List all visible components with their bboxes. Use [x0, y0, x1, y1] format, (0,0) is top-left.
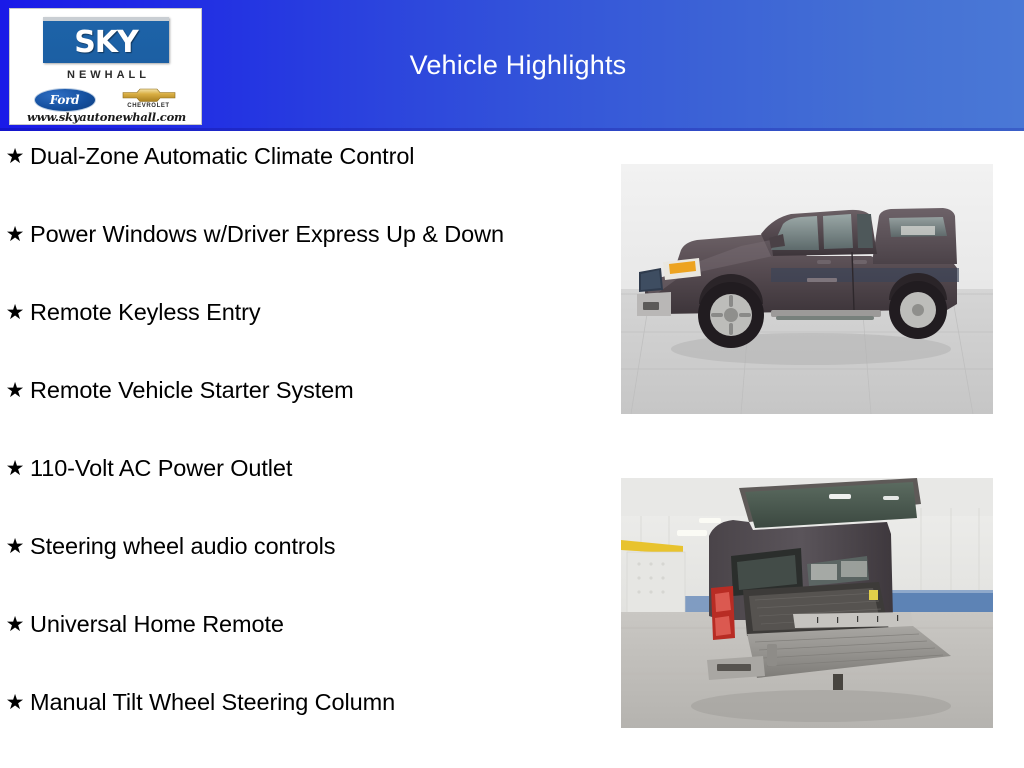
feature-label: Steering wheel audio controls: [30, 528, 540, 564]
header-underline: [0, 128, 1024, 131]
star-bullet-icon: ★: [0, 372, 30, 408]
list-item: ★ Steering wheel audio controls: [0, 528, 600, 564]
list-item: ★ 110-Volt AC Power Outlet: [0, 450, 600, 486]
list-item: ★ Dual-Zone Automatic Climate Control: [0, 138, 600, 174]
sky-brand-text: SKY: [43, 21, 169, 63]
ford-logo-icon: Ford: [34, 88, 96, 112]
list-item: ★ Remote Keyless Entry: [0, 294, 600, 330]
feature-label: Remote Keyless Entry: [30, 294, 540, 330]
feature-label: Power Windows w/Driver Express Up & Down: [30, 216, 540, 252]
star-bullet-icon: ★: [0, 684, 30, 720]
list-item: ★ Universal Home Remote: [0, 606, 600, 642]
star-bullet-icon: ★: [0, 606, 30, 642]
vehicle-highlights-list: ★ Dual-Zone Automatic Climate Control ★ …: [0, 138, 600, 720]
chevrolet-logo-label: CHEVROLET: [118, 103, 180, 109]
star-bullet-icon: ★: [0, 216, 30, 252]
chevrolet-bowtie-shape: [122, 88, 176, 103]
feature-label: Dual-Zone Automatic Climate Control: [30, 138, 540, 174]
dealer-website-url: www.skyautonewhall.com: [10, 110, 202, 124]
vehicle-exterior-photo[interactable]: [621, 164, 993, 414]
feature-label: Universal Home Remote: [30, 606, 540, 642]
dealer-logo[interactable]: SKY NEWHALL Ford CHEVROLET www.skyautone…: [9, 8, 202, 125]
star-bullet-icon: ★: [0, 294, 30, 330]
star-bullet-icon: ★: [0, 450, 30, 486]
feature-label: Remote Vehicle Starter System: [30, 372, 540, 408]
feature-label: 110-Volt AC Power Outlet: [30, 450, 540, 486]
feature-label: Manual Tilt Wheel Steering Column: [30, 684, 540, 720]
star-bullet-icon: ★: [0, 528, 30, 564]
ford-logo-label: Ford: [50, 93, 79, 107]
dealer-location-text: NEWHALL: [10, 69, 202, 81]
list-item: ★ Power Windows w/Driver Express Up & Do…: [0, 216, 600, 252]
sky-logo-plate: SKY: [43, 17, 169, 63]
list-item: ★ Manual Tilt Wheel Steering Column: [0, 684, 600, 720]
vehicle-exterior-image: [621, 164, 993, 414]
vehicle-cargo-photo[interactable]: [621, 478, 993, 728]
star-bullet-icon: ★: [0, 138, 30, 174]
vehicle-cargo-image: [621, 478, 993, 728]
list-item: ★ Remote Vehicle Starter System: [0, 372, 600, 408]
